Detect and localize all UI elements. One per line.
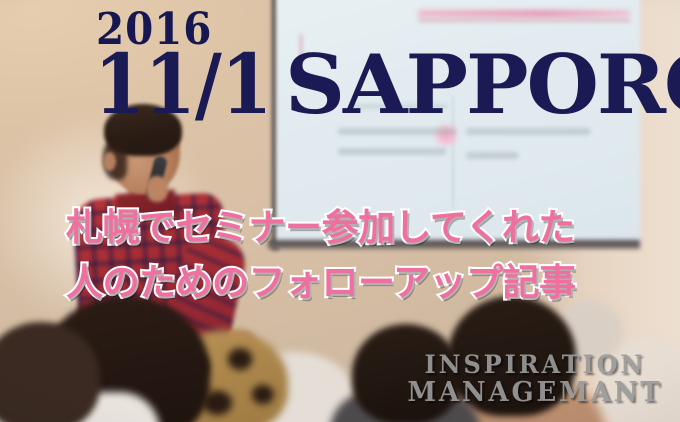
subtitle-line-2: 人のためのフォローアップ記事 bbox=[66, 252, 576, 306]
brand-logo-line-2: MANAGEMANT bbox=[408, 379, 663, 406]
title-city: SAPPORO bbox=[285, 43, 680, 125]
brand-logo: INSPIRATION MANAGEMANT bbox=[402, 352, 668, 406]
subtitle-line-1: 札幌でセミナー参加してくれた bbox=[66, 197, 575, 251]
brand-logo-line-1: INSPIRATION bbox=[408, 352, 663, 377]
title-headline: 11/1 SAPPORO bbox=[94, 44, 680, 126]
eyecatch-image: 2016 11/1 SAPPORO 札幌でセミナー参加してくれた 人のためのフォ… bbox=[0, 0, 680, 422]
title-date: 11/1 bbox=[94, 44, 271, 126]
text-overlay: 2016 11/1 SAPPORO 札幌でセミナー参加してくれた 人のためのフォ… bbox=[0, 0, 680, 422]
